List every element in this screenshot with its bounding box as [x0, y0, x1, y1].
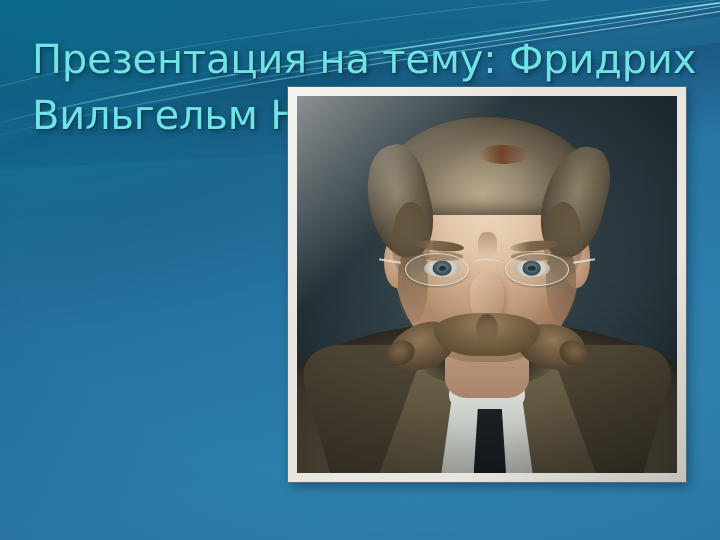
presentation-slide: Презентация на тему: Фридрих Вильгельм Н… [0, 0, 720, 540]
right-lens [505, 253, 569, 286]
glasses-bridge [472, 259, 501, 268]
moustache-part [476, 314, 499, 343]
portrait-photo-frame[interactable] [288, 87, 686, 482]
portrait-photo [297, 96, 677, 473]
hairline [479, 145, 528, 164]
moustache [392, 313, 582, 373]
left-lens [405, 253, 469, 286]
